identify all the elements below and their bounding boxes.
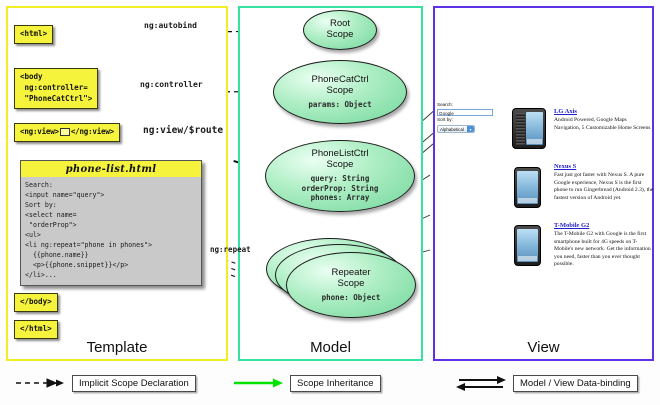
scope-repeater-front: RepeaterScope phone: Object (286, 252, 416, 318)
scope-phonecatctrl-props: params: Object (308, 100, 371, 110)
legend-label: Implicit Scope Declaration (72, 375, 196, 392)
panel-view-label: View (435, 339, 652, 356)
code-callout-title: phone-list.html (21, 161, 201, 177)
phone-description: Fast just got faster with Nexus S. A pur… (554, 172, 654, 202)
edge-label-ng-controller: ng:controller (140, 80, 203, 89)
solid-green-arrow-icon (232, 374, 284, 392)
tag-html-open: <html> (14, 25, 53, 44)
scope-phonelistctrl-props: query: String orderProp: String phones: … (302, 174, 379, 203)
edge-label-ng-view-route: ng:view/$route (143, 125, 223, 136)
phone-screen-1 (526, 112, 543, 145)
scope-repeater-stack: RepeaterScope phone: Object (266, 238, 416, 328)
panel-template-label: Template (8, 339, 226, 356)
edge-label-ng-repeat: ng:repeat (210, 245, 251, 254)
scope-repeater-title: RepeaterScope (331, 268, 370, 290)
scope-phonecatctrl-title: PhoneCatCtrlScope (311, 75, 368, 97)
code-callout: phone-list.html Search: <input name="que… (20, 160, 202, 286)
phone-description: Android Powered, Google Maps Navigation,… (554, 117, 654, 132)
chevron-down-icon: ▾ (467, 126, 474, 132)
double-arrow-icon (455, 374, 507, 392)
tag-ng-view-close: </ng:view> (71, 127, 114, 136)
scope-phonelistctrl: PhoneListCtrlScope query: String orderPr… (265, 140, 415, 212)
phone-list-item: Nexus S Fast just got faster with Nexus … (554, 163, 654, 202)
phone-thumbnail-2 (514, 167, 541, 208)
search-widget: Search: Google Sort by: Alphabetical ▾ (437, 102, 495, 133)
sort-by-label: Sort by: (437, 117, 495, 124)
phone-screen-3 (517, 229, 538, 262)
phone-thumbnail-1 (512, 108, 546, 149)
ng-view-slot-icon (60, 128, 70, 136)
scope-root: RootScope (303, 10, 377, 50)
tag-html-close: </html> (14, 320, 58, 339)
phone-name-link[interactable]: LG Axis (554, 108, 654, 115)
scope-root-title: RootScope (327, 19, 354, 41)
phone-list-item: T-Mobile G2 The T-Mobile G2 with Google … (554, 222, 654, 269)
search-label: Search: (437, 102, 495, 109)
legend-item-implicit-scope-declaration: Implicit Scope Declaration (14, 374, 196, 392)
scope-repeater-props: phone: Object (322, 293, 381, 303)
phone-name-link[interactable]: T-Mobile G2 (554, 222, 654, 229)
tag-ng-view: <ng:view></ng:view> (14, 123, 120, 142)
legend-label: Model / View Data-binding (513, 375, 638, 392)
tag-body-close: </body> (14, 293, 58, 312)
panel-model-label: Model (240, 339, 421, 356)
scope-phonelistctrl-title: PhoneListCtrlScope (311, 149, 368, 171)
search-input[interactable]: Google (437, 109, 493, 116)
dashed-arrow-icon (14, 374, 66, 392)
phone-description: The T-Mobile G2 with Google is the first… (554, 231, 654, 269)
phone-name-link[interactable]: Nexus S (554, 163, 654, 170)
legend-label: Scope Inheritance (290, 375, 381, 392)
phone-thumbnail-3 (514, 225, 541, 266)
tag-body-open: <body ng:controller= "PhoneCatCtrl"> (14, 68, 98, 109)
code-callout-body: Search: <input name="query"> Sort by: <s… (21, 177, 201, 285)
scope-phonecatctrl: PhoneCatCtrlScope params: Object (273, 60, 407, 124)
legend-item-scope-inheritance: Scope Inheritance (232, 374, 381, 392)
legend: Implicit Scope Declaration Scope Inherit… (0, 366, 660, 405)
tag-ng-view-open: <ng:view> (20, 127, 59, 136)
sort-by-select[interactable]: Alphabetical ▾ (437, 125, 475, 133)
legend-item-model-view-data-binding: Model / View Data-binding (455, 374, 638, 392)
phone-list-item: LG Axis Android Powered, Google Maps Nav… (554, 108, 654, 132)
edge-label-ng-autobind: ng:autobind (144, 21, 197, 30)
phone-screen-2 (517, 171, 538, 204)
sort-by-value: Alphabetical (440, 127, 464, 132)
